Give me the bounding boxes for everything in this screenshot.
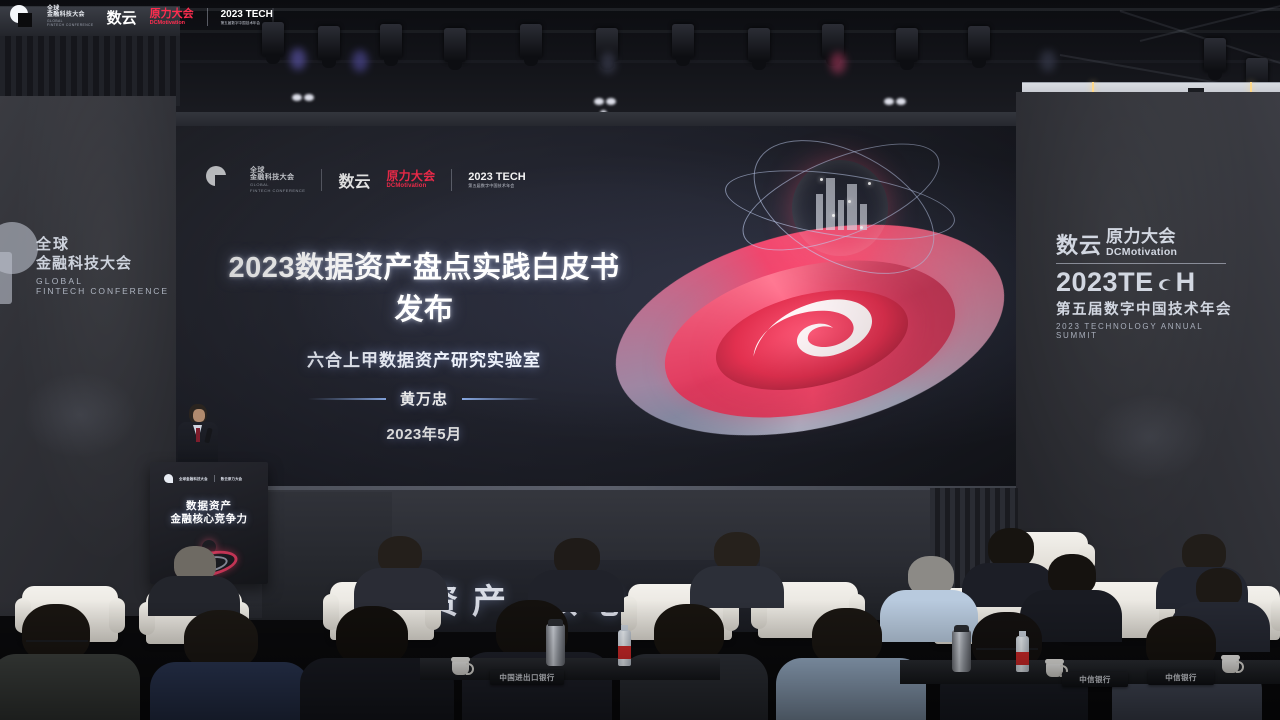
overlay-fintech-cn2: 金融科技大会: [47, 12, 94, 18]
audience-member: [150, 610, 310, 720]
eyeglasses-icon: [26, 640, 88, 643]
stage-light-icon: [318, 26, 340, 60]
broadcast-logo-overlay: 全球 金融科技大会 GLOBAL FINTECH CONFERENCE 数云 原…: [10, 5, 273, 29]
stage-light-icon: [520, 24, 542, 58]
speaker-tie: [196, 428, 200, 442]
right-wall-dcmotivation: DCMotivation: [1106, 247, 1177, 258]
table-nameplate: 中国进出口银行: [490, 670, 564, 685]
stage-light-icon: [1204, 38, 1226, 72]
main-led-screen: 全球 金融科技大会 GLOBAL FINTECH CONFERENCE 数云 原…: [176, 126, 1016, 488]
overlay-shuyun: 数云: [107, 7, 137, 28]
table-nameplate: 中信银行: [1062, 672, 1128, 687]
divider-rule: [1056, 263, 1226, 264]
right-wall-yuanli: 原力大会: [1106, 228, 1177, 245]
logo-divider: [207, 8, 208, 26]
left-wall-cn-line1: 全球: [36, 236, 169, 254]
wall-haze-glow: [1090, 392, 1210, 482]
wall-haze-glow: [20, 370, 140, 460]
overlay-fintech-text: 全球 金融科技大会 GLOBAL FINTECH CONFERENCE: [47, 6, 94, 28]
right-wall-shuyun: 数云: [1056, 234, 1102, 258]
audience-member: [354, 536, 450, 606]
speaker-presenter: [176, 404, 220, 466]
thermos-flask: [952, 630, 971, 672]
overlay-dcmotivation: DCMotivation: [150, 20, 194, 26]
stage-light-icon: [896, 28, 918, 62]
stage-light-icon: [748, 28, 770, 62]
overlay-year-sub: 第五届数字中国技术年会: [221, 21, 273, 25]
teacup: [1046, 662, 1063, 677]
right-wall-te: TE: [1118, 268, 1154, 297]
logo-divider: [214, 475, 215, 482]
audience-member: [690, 532, 786, 604]
teacup: [452, 660, 469, 675]
overlay-fintech-en2: FINTECH CONFERENCE: [47, 24, 94, 28]
fintech-mark-icon: [10, 5, 34, 29]
speaker-face: [193, 409, 205, 422]
table-nameplate: 中信银行: [1148, 670, 1214, 685]
podium-logo-cn: 全球金融科技大会: [179, 476, 208, 481]
stage-light-icon: [380, 24, 402, 58]
stage-deck-edge: [176, 486, 1016, 490]
left-wall-branding: 全球 金融科技大会 GLOBAL FINTECH CONFERENCE: [36, 236, 169, 296]
nameplate-label: 中国进出口银行: [499, 672, 554, 683]
audience-area: 中国进出口银行 中信银行 中信银行: [0, 520, 1280, 720]
thermos-flask: [546, 624, 565, 666]
audience-member: [528, 538, 626, 608]
stage-light-icon: [672, 24, 694, 58]
podium-title-line1: 数据资产: [150, 500, 268, 513]
left-wall-en-line1: GLOBAL: [36, 276, 169, 286]
right-wall-branding: 数云 原力大会 DCMotivation 2023TE H 第五届数字中国技术年…: [1056, 228, 1236, 340]
conference-stage-scene: 全球 金融科技大会 GLOBAL FINTECH CONFERENCE 数云 原…: [0, 0, 1280, 720]
audience-member: [146, 546, 242, 612]
overlay-yuanli: 原力大会: [150, 8, 194, 20]
overlay-year: 2023 TECH: [221, 9, 273, 22]
podium-logo-cn2: 数云原力大会: [221, 476, 243, 481]
right-wall-year: 2023: [1056, 268, 1118, 297]
left-wall-cn-line2: 金融科技大会: [36, 254, 169, 273]
water-bottle: [618, 630, 631, 666]
stage-light-icon: [968, 26, 990, 60]
audience-member: [0, 604, 140, 720]
right-wall-h: H: [1176, 268, 1196, 297]
nameplate-label: 中信银行: [1165, 672, 1197, 683]
right-wall-summit-en: 2023 TECHNOLOGY ANNUAL SUMMIT: [1056, 322, 1236, 340]
teacup: [1222, 658, 1239, 673]
fintech-mark-icon: [164, 474, 173, 483]
left-wall-en-line2: FINTECH CONFERENCE: [36, 286, 169, 296]
water-bottle: [1016, 636, 1029, 672]
nameplate-label: 中信银行: [1079, 674, 1111, 685]
right-wall-year-lockup: 2023TE H: [1056, 268, 1236, 297]
podium-logo-strip: 全球金融科技大会 数云原力大会: [164, 474, 242, 483]
swirl-c-icon: [1155, 272, 1175, 292]
right-wall-summit-cn: 第五届数字中国技术年会: [1056, 298, 1236, 319]
stage-light-icon: [444, 28, 466, 62]
